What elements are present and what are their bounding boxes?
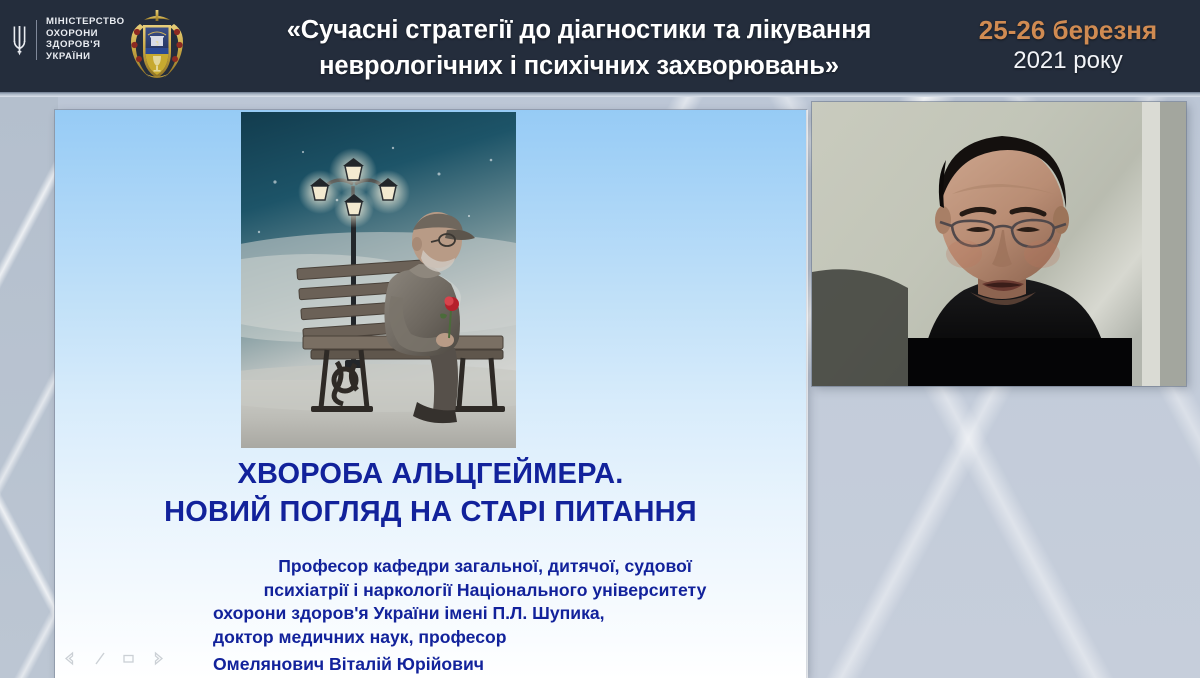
university-coat-of-arms-icon: 3 xyxy=(126,8,188,86)
slide-cam-seam xyxy=(806,110,808,678)
conference-date: 25-26 березня 2021 року xyxy=(944,14,1192,76)
conference-title: «Сучасні стратегії до діагностики та лік… xyxy=(228,12,930,84)
slide-subtitle-line-1: Професор кафедри загальної, дитячої, суд… xyxy=(205,555,765,579)
slide-subtitle-line-3: охорони здоров'я України імені П.Л. Шупи… xyxy=(205,602,765,626)
slide-subtitle-line-2: психіатрії і наркології Національного ун… xyxy=(205,579,765,603)
ukraine-trident-icon xyxy=(12,20,27,60)
ministry-line-1: МІНІСТЕРСТВО xyxy=(46,17,125,28)
presentation-broadcast-screen: МІНІСТЕРСТВО ОХОРОНИ ЗДОРОВ'Я УКРАЇНИ xyxy=(0,0,1200,678)
slide-subtitle-line-4: доктор медичних наук, професор xyxy=(205,626,765,650)
conference-header-bar: МІНІСТЕРСТВО ОХОРОНИ ЗДОРОВ'Я УКРАЇНИ xyxy=(0,0,1200,92)
ministry-logo-block: МІНІСТЕРСТВО ОХОРОНИ ЗДОРОВ'Я УКРАЇНИ xyxy=(12,17,125,62)
presentation-slide: ХВОРОБА АЛЬЦГЕЙМЕРА. НОВИЙ ПОГЛЯД НА СТА… xyxy=(55,110,806,678)
ministry-line-2: ОХОРОНИ xyxy=(46,29,125,40)
conference-date-year: 2021 року xyxy=(944,46,1192,76)
ministry-logo-divider xyxy=(36,20,37,60)
ministry-line-3: ЗДОРОВ'Я xyxy=(46,40,125,51)
header-bottom-sheen xyxy=(0,92,1200,97)
slide-subtitle: Професор кафедри загальної, дитячої, суд… xyxy=(205,555,765,677)
pen-tool-icon[interactable] xyxy=(92,651,107,666)
slide-title: ХВОРОБА АЛЬЦГЕЙМЕРА. НОВИЙ ПОГЛЯД НА СТА… xyxy=(67,455,794,531)
svg-text:3: 3 xyxy=(155,41,159,48)
next-slide-arrow-icon[interactable] xyxy=(150,651,165,666)
ministry-line-4: УКРАЇНИ xyxy=(46,52,125,63)
ministry-name-lines: МІНІСТЕРСТВО ОХОРОНИ ЗДОРОВ'Я УКРАЇНИ xyxy=(46,17,125,62)
slideshow-toolbar[interactable] xyxy=(63,651,165,666)
slide-title-line-1: ХВОРОБА АЛЬЦГЕЙМЕРА. xyxy=(238,458,624,490)
slide-menu-icon[interactable] xyxy=(121,651,136,666)
speaker-webcam-feed[interactable] xyxy=(812,102,1186,386)
presentation-slide-panel[interactable]: ХВОРОБА АЛЬЦГЕЙМЕРА. НОВИЙ ПОГЛЯД НА СТА… xyxy=(55,110,806,678)
elderly-man-on-bench-illustration xyxy=(241,112,516,448)
slide-subtitle-presenter-name: Омелянович Віталій Юрійович xyxy=(205,649,765,677)
slide-title-line-2: НОВИЙ ПОГЛЯД НА СТАРІ ПИТАННЯ xyxy=(164,496,697,528)
broadcast-backdrop-left-strip xyxy=(0,96,58,678)
conference-date-days: 25-26 березня xyxy=(944,14,1192,46)
previous-slide-arrow-icon[interactable] xyxy=(63,651,78,666)
